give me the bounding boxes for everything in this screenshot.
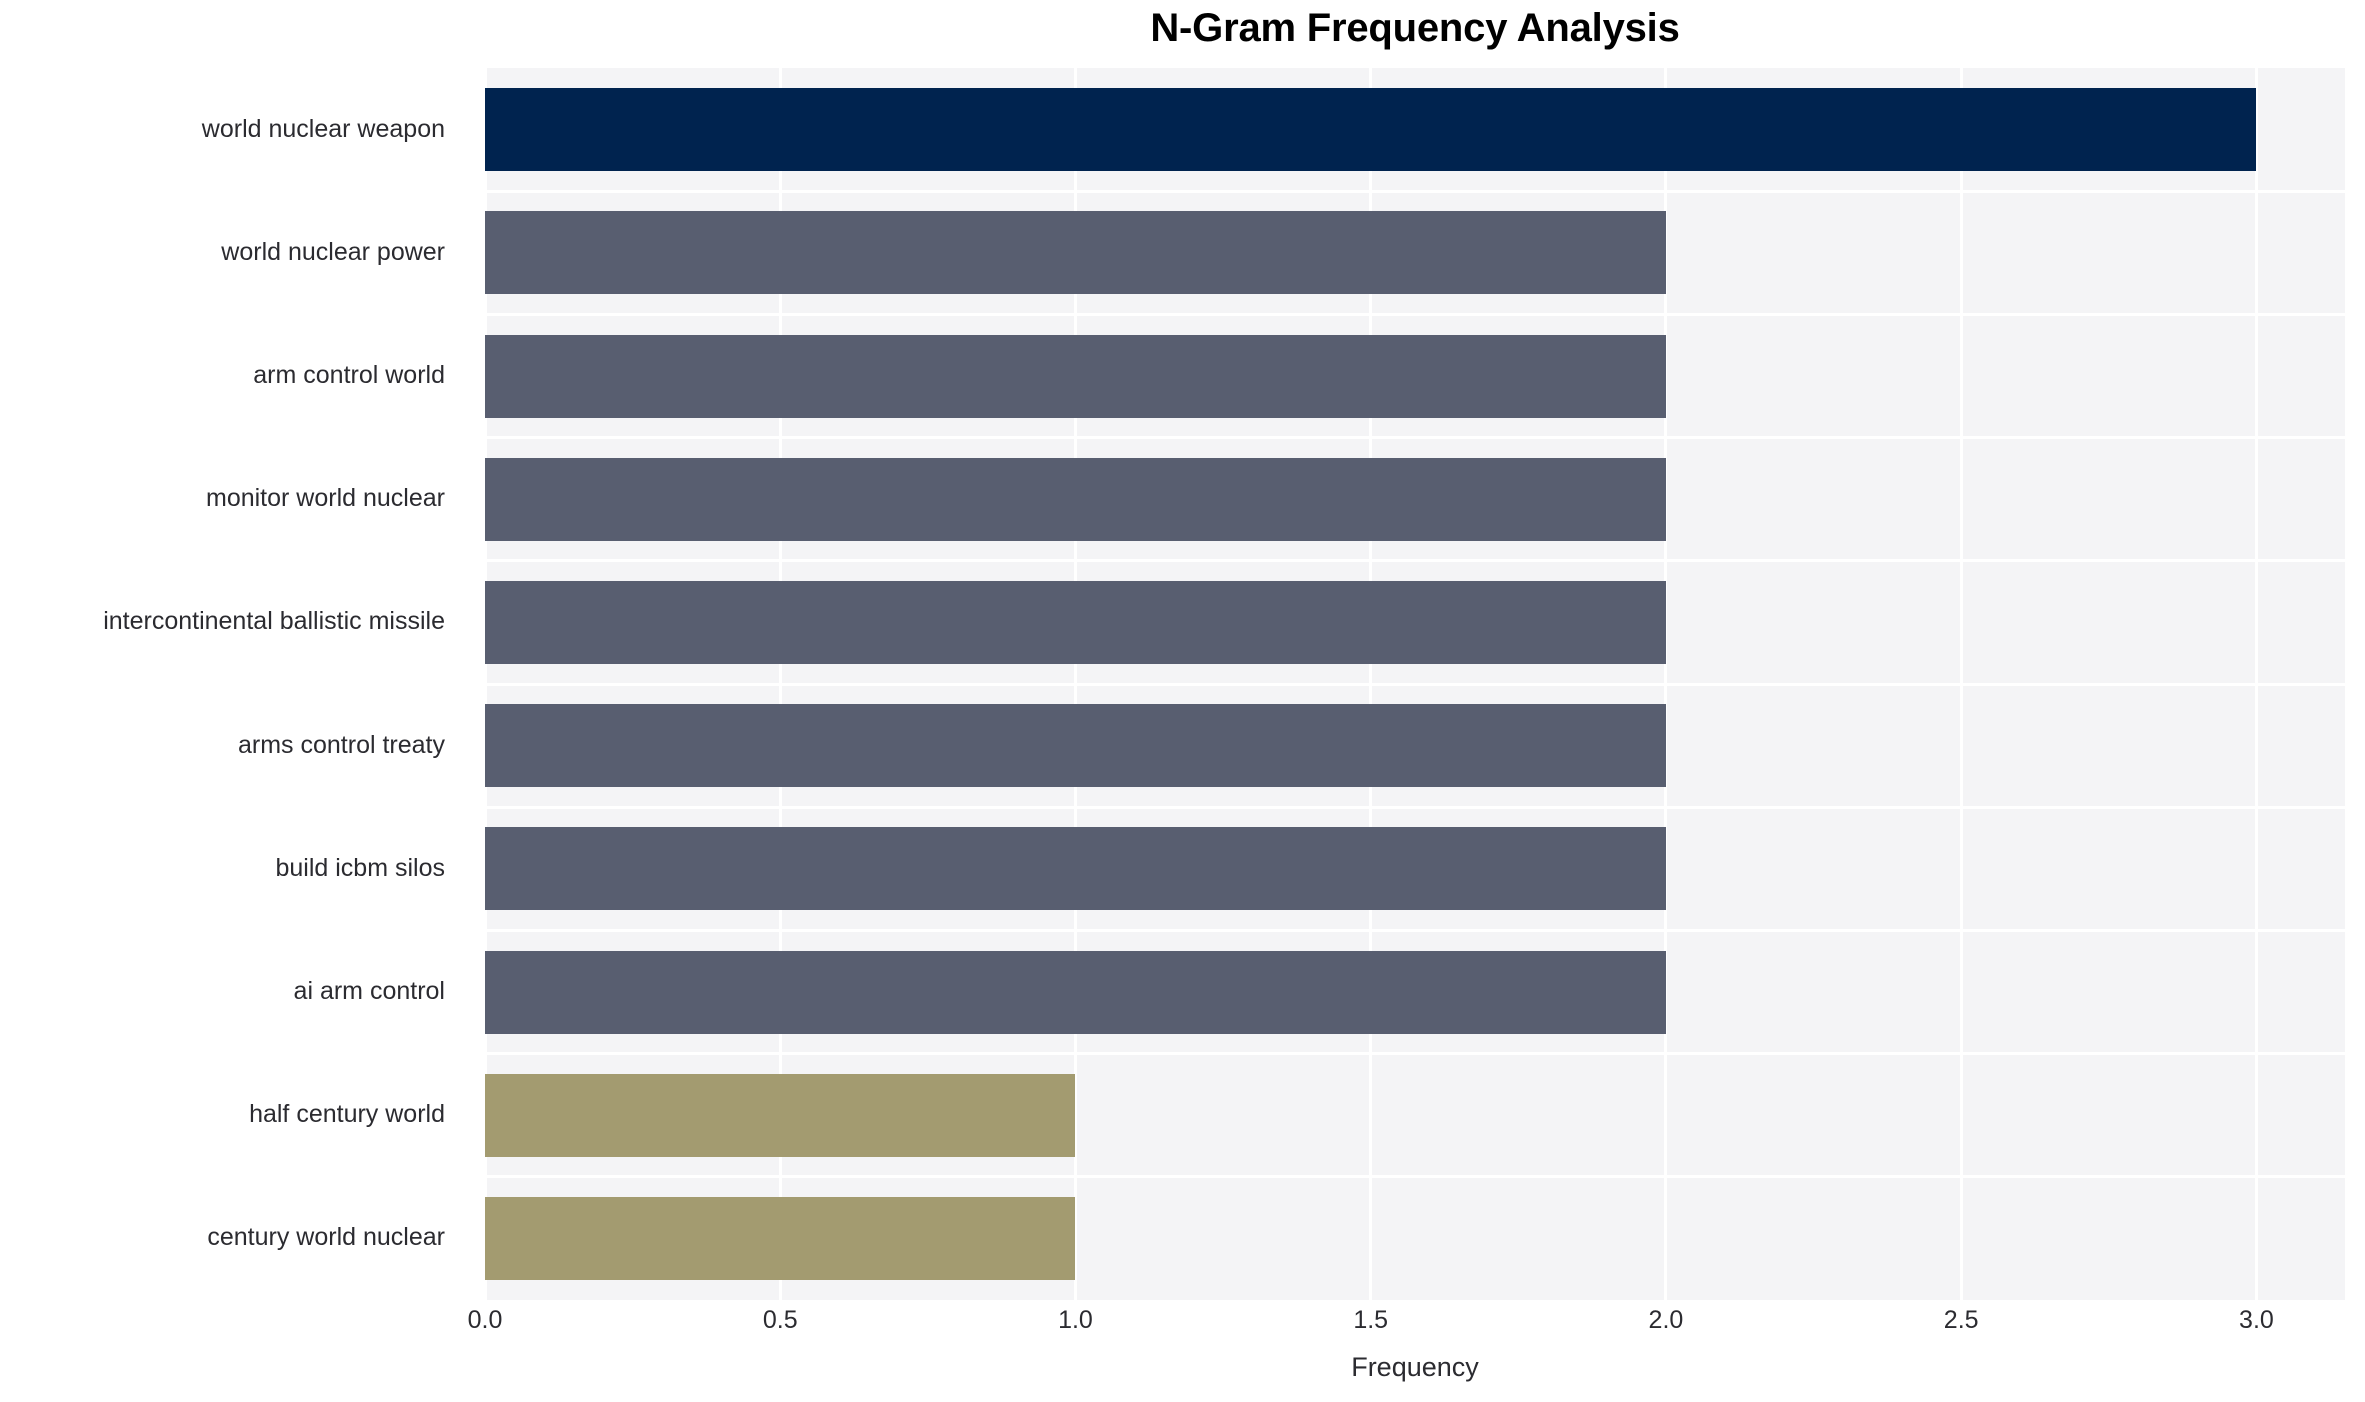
x-axis-title: Frequency bbox=[485, 1352, 2345, 1383]
y-axis-tick-label: arm control world bbox=[253, 363, 445, 388]
bar bbox=[485, 704, 1666, 787]
y-axis-tick-label: world nuclear weapon bbox=[202, 117, 445, 142]
bar bbox=[485, 827, 1666, 910]
y-axis-tick-label: build icbm silos bbox=[275, 856, 445, 881]
bar bbox=[485, 88, 2256, 171]
horizontal-gridline bbox=[485, 436, 2345, 439]
horizontal-gridline bbox=[485, 1175, 2345, 1178]
x-axis-tick-label: 0.5 bbox=[763, 1308, 798, 1333]
horizontal-gridline bbox=[485, 559, 2345, 562]
x-axis-tick-labels: 0.00.51.01.52.02.53.0 bbox=[0, 1308, 2365, 1348]
x-axis-tick-label: 0.0 bbox=[468, 1308, 503, 1333]
x-axis-tick-label: 1.0 bbox=[1058, 1308, 1093, 1333]
bar bbox=[485, 951, 1666, 1034]
y-axis-tick-label: intercontinental ballistic missile bbox=[103, 609, 445, 634]
x-axis-tick-label: 2.0 bbox=[1649, 1308, 1684, 1333]
y-axis-tick-labels: world nuclear weaponworld nuclear powera… bbox=[0, 68, 465, 1300]
bar bbox=[485, 458, 1666, 541]
y-axis-tick-label: monitor world nuclear bbox=[206, 486, 445, 511]
bar bbox=[485, 581, 1666, 664]
chart-figure: N-Gram Frequency Analysis world nuclear … bbox=[0, 0, 2365, 1402]
plot-area bbox=[485, 68, 2345, 1300]
x-axis-tick-label: 1.5 bbox=[1353, 1308, 1388, 1333]
bar bbox=[485, 335, 1666, 418]
y-axis-tick-label: world nuclear power bbox=[221, 240, 445, 265]
horizontal-gridline bbox=[485, 929, 2345, 932]
x-axis-tick-label: 2.5 bbox=[1944, 1308, 1979, 1333]
horizontal-gridline bbox=[485, 683, 2345, 686]
horizontal-gridline bbox=[485, 1052, 2345, 1055]
y-axis-tick-label: ai arm control bbox=[294, 979, 445, 1004]
horizontal-gridline bbox=[485, 806, 2345, 809]
horizontal-gridline bbox=[485, 313, 2345, 316]
y-axis-tick-label: half century world bbox=[249, 1102, 445, 1127]
bar bbox=[485, 211, 1666, 294]
bar bbox=[485, 1197, 1075, 1280]
bar bbox=[485, 1074, 1075, 1157]
horizontal-gridline bbox=[485, 190, 2345, 193]
y-axis-tick-label: arms control treaty bbox=[238, 733, 445, 758]
x-axis-tick-label: 3.0 bbox=[2239, 1308, 2274, 1333]
chart-title: N-Gram Frequency Analysis bbox=[485, 6, 2345, 51]
y-axis-tick-label: century world nuclear bbox=[207, 1225, 445, 1250]
